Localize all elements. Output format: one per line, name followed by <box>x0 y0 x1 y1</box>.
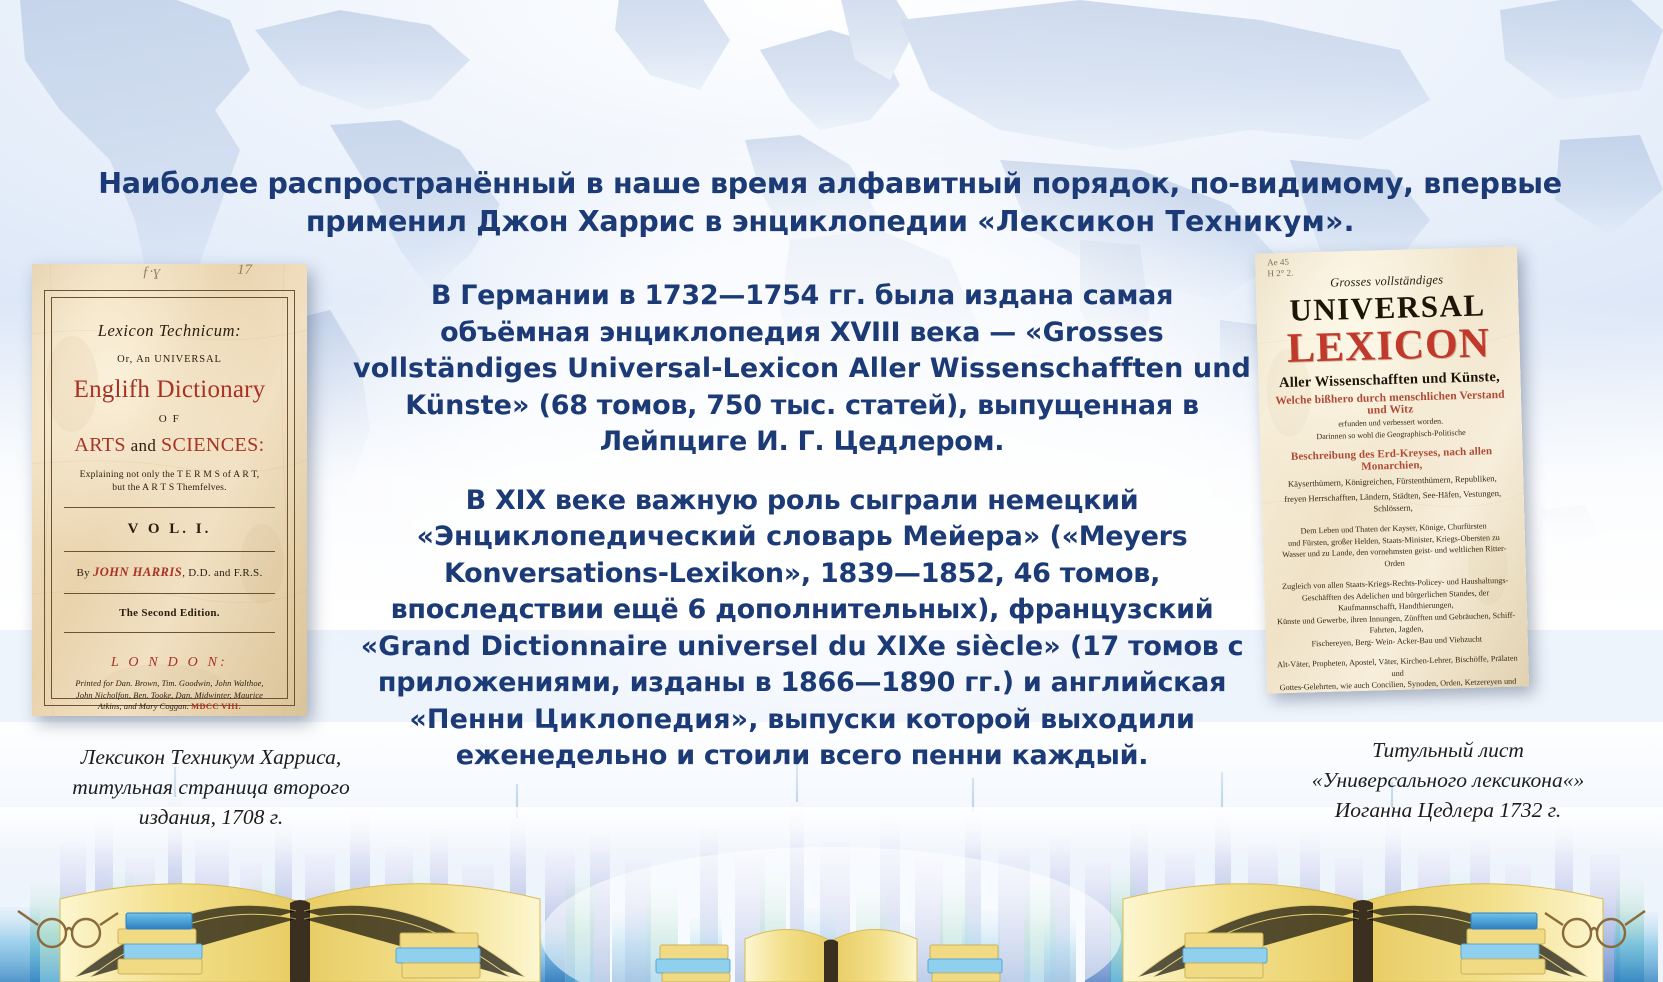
book-printers-block: Printed for Dan. Brown, Tim. Goodwin, Jo… <box>56 678 283 713</box>
p2-run-0: В XIX веке важную роль сыграли немецкий <box>466 485 1139 516</box>
zugleich-block: Zugleich von allen Staats-Kriegs-Rechts-… <box>1274 575 1518 651</box>
caption-left-book: Лексикон Техникум Харриса, титульная стр… <box>16 742 406 832</box>
by-prefix: By <box>76 567 93 579</box>
by-suffix: , D.D. and F.R.S. <box>182 567 262 579</box>
sciences-word: SCIENCES: <box>161 434 265 456</box>
book-edition-line: The Second Edition. <box>56 607 283 619</box>
p1-run-2: (68 томов, 750 тыс. статей), выпущенная … <box>530 390 1199 458</box>
book-author-line: By JOHN HARRIS, D.D. and F.R.S. <box>56 565 283 580</box>
and-word: and <box>126 436 161 455</box>
p2-run-3: «Grand Dictionnaire universel du XIXe si… <box>361 631 1061 662</box>
paragraph-1: В Германии в 1732—1754 гг. была издана с… <box>352 278 1252 461</box>
book-subtitle-line: Or, An UNIVERSAL <box>56 354 283 365</box>
image-lexicon-technicum-title-page: ƒ·ɣ 17 Lexicon Technicum: Or, An UNIVERS… <box>32 264 307 716</box>
printers-line-3: Atkins, and Mary Coggan. MDCC VIII. <box>56 701 283 713</box>
freien-line: freyen Herrschafften, Ländern, Städten, … <box>1272 487 1515 518</box>
explaining-line-1: Explaining not only the T E R M S of A R… <box>56 468 283 481</box>
slide-root: ƒ·ɣ 17 Lexicon Technicum: Or, An UNIVERS… <box>0 0 1663 982</box>
rule-2 <box>64 551 275 552</box>
explaining-line-2: but the A R T S Themfelves. <box>56 481 283 494</box>
headline-emphasis: «Лексикон Техникум» <box>977 205 1343 238</box>
printers-line-1: Printed for Dan. Brown, Tim. Goodwin, Jo… <box>56 678 283 690</box>
rule-3 <box>64 593 275 594</box>
book-city-line: L O N D O N: <box>56 655 283 671</box>
open-books-decoration-icon <box>0 807 1663 982</box>
lexicon-word: LEXICON <box>1267 319 1510 374</box>
title-page-content: Lexicon Technicum: Or, An UNIVERSAL Engl… <box>56 302 283 696</box>
arts-word: ARTS <box>74 434 126 456</box>
p2-run-5: «Пенни Циклопедия» <box>409 704 748 735</box>
handwritten-shelfmark: ƒ·ɣ 17 <box>32 266 307 290</box>
book-explaining-block: Explaining not only the T E R M S of A R… <box>56 468 283 494</box>
altvater-block: Alt-Väter, Propheten, Apostel, Väter, Ki… <box>1276 653 1519 694</box>
printed-year: MDCC VIII. <box>191 702 241 711</box>
shelfmark-scribble-1: ƒ·ɣ <box>142 264 160 281</box>
p2-run-1: «Энциклопедический словарь Мейера» <box>417 521 1041 552</box>
beschreibung-line: Beschreibung des Erd-Kreyses, nach allen… <box>1270 445 1513 476</box>
paragraph-2: В XIX веке важную роль сыграли немецкий … <box>352 483 1252 775</box>
slide-body-text: В Германии в 1732—1754 гг. была издана с… <box>352 278 1252 775</box>
headline-text-tail: . <box>1344 205 1355 238</box>
book-arts-sciences-line: ARTS and SCIENCES: <box>56 434 283 457</box>
book-of-line: O F <box>56 413 283 425</box>
right-title-page-content: Grosses vollständiges UNIVERSAL LEXICON … <box>1265 255 1519 686</box>
book-title-line: Lexicon Technicum: <box>56 321 283 341</box>
author-name: JOHN HARRIS <box>93 565 182 579</box>
shelfmark-scribble-2: 17 <box>237 264 252 279</box>
book-volume-line: V O L. I. <box>56 521 283 538</box>
printers-line-3-text: Atkins, and Mary Coggan. <box>98 702 189 711</box>
book-english-dictionary-line: Englifh Dictionary <box>56 376 283 404</box>
rule-4 <box>64 632 275 633</box>
caption-right-book: Титульный лист «Универсального лексикона… <box>1248 735 1648 825</box>
rule-1 <box>64 507 275 508</box>
leben-block: Dem Leben und Thaten der Kayser, Könige,… <box>1273 520 1516 573</box>
image-universal-lexicon-title-page: Ae 45 H 2° 2. Grosses vollständiges UNIV… <box>1255 246 1529 693</box>
slide-headline: Наиболее распространённый в наше время а… <box>95 165 1565 241</box>
printers-line-2: John Nicholfon, Ben. Tooke, Dan. Midwint… <box>56 690 283 702</box>
